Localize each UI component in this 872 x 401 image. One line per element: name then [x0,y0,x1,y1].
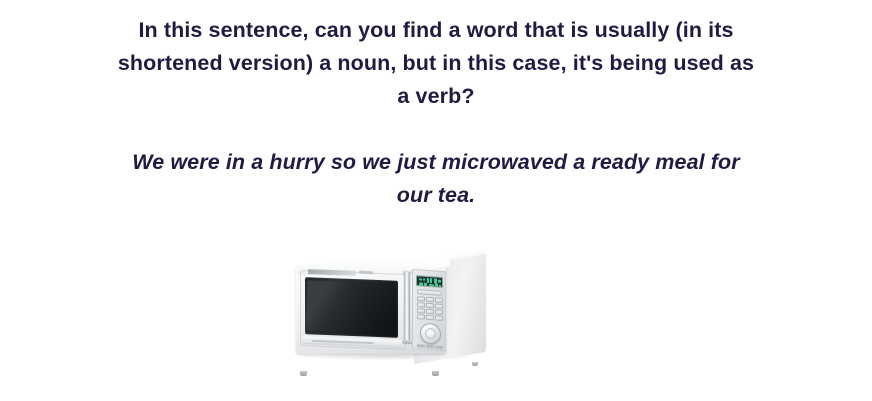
question-block: In this sentence, can you find a word th… [96,14,776,212]
illustration-area [0,236,872,386]
lcd-segment [430,278,432,283]
lcd-segment [438,280,441,283]
keypad-button[interactable] [426,297,434,302]
lcd-segment [424,283,427,286]
microwave-oven-image [296,252,486,372]
microwave-door-handle [404,272,410,342]
microwave-panel-labels [417,344,443,349]
keypad-button[interactable] [435,303,443,308]
lcd-segment [429,284,434,286]
panel-label-mark [435,345,443,348]
lcd-segment [435,283,438,286]
lcd-segment [423,279,425,281]
microwave-control-panel [412,269,446,351]
microwave-foot [300,371,307,376]
microwave-glass-glare [307,280,351,332]
microwave-brand-model-mark [359,271,373,274]
lcd-segment [427,278,429,283]
example-sentence-line-1: We were in a hurry so we just microwaved… [96,146,776,179]
keypad-button[interactable] [435,316,443,321]
microwave-foot [432,371,439,376]
lcd-segment [419,282,423,285]
keypad-button[interactable] [426,309,434,314]
keypad-button[interactable] [417,308,425,313]
microwave-keypad[interactable] [417,296,443,321]
keypad-button[interactable] [426,315,434,320]
microwave-function-button[interactable] [417,289,442,295]
keypad-button[interactable] [417,296,425,301]
paragraph-spacer [96,113,776,146]
microwave-foot [472,362,478,366]
microwave-door-window [305,277,398,338]
panel-label-mark [417,344,425,347]
microwave-dial-center [425,328,436,340]
keypad-button[interactable] [435,297,443,302]
keypad-button[interactable] [417,302,425,307]
page-root: In this sentence, can you find a word th… [0,0,872,401]
microwave-timer-dial[interactable] [420,322,441,344]
lcd-segment [419,278,422,280]
keypad-button[interactable] [417,314,425,319]
text-content: In this sentence, can you find a word th… [0,0,872,212]
question-line-2: shortened version) a noun, but in this c… [96,47,776,80]
keypad-button[interactable] [435,310,443,315]
keypad-button[interactable] [426,303,434,308]
lcd-segment [439,285,441,287]
example-sentence-line-2: our tea. [96,179,776,212]
question-line-3: a verb? [96,80,776,113]
question-line-1: In this sentence, can you find a word th… [96,14,776,47]
microwave-lcd-display [416,275,443,288]
microwave-handle-cap-bottom [402,340,412,344]
panel-label-mark [426,345,434,348]
